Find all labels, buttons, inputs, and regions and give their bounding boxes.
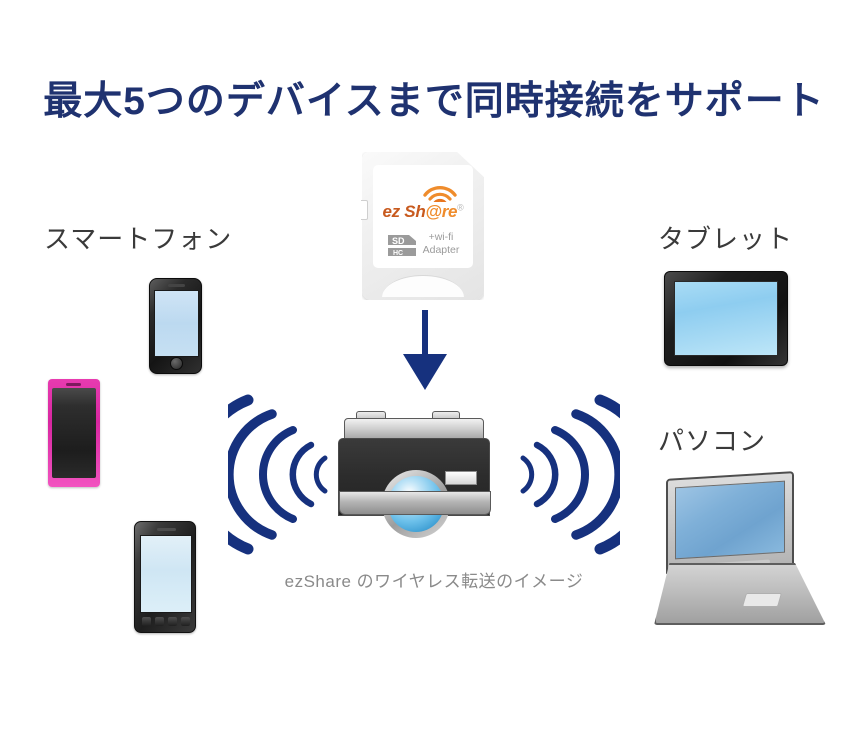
sd-card-adapter-text: +wi-fi Adapter [416,231,466,257]
smartphone-black-icon [149,278,202,374]
wireless-waves-left-icon [228,392,336,557]
brand-sh: Sh [404,202,425,221]
label-tablet: タブレット [658,219,793,256]
registered-mark: ® [457,202,463,212]
tablet-icon [664,271,788,366]
brand-at: @ [425,202,441,221]
tablet-screen [674,281,778,356]
phone-key [168,617,177,626]
laptop-screen [675,481,785,560]
smartphone-slate-icon [134,521,196,633]
phone-screen [154,290,199,357]
label-smartphone: スマートフォン [44,219,232,256]
phone-key [155,617,164,626]
phone-speaker [66,383,81,386]
arrow-down-icon [400,310,450,392]
phone-key [181,617,190,626]
svg-text:HC: HC [393,250,403,257]
camera-body [338,438,490,516]
brand-ez: ez [382,202,399,221]
camera-icon [338,418,490,538]
wifi-arcs-icon [423,182,457,202]
camera-bottom-plate [339,491,491,515]
svg-text:SD: SD [392,236,405,246]
phone-screen [52,388,96,478]
phone-key [142,617,151,626]
laptop-lid [666,471,794,574]
page-title: 最大5つのデバイスまで同時接続をサポート [0,70,868,126]
sd-card-write-protect-notch [361,200,368,220]
laptop-trackpad [742,593,782,607]
phone-speaker [157,528,176,531]
camera-viewfinder-window [445,471,477,485]
brand-re: re [442,202,457,221]
laptop-base [654,563,826,625]
sd-card-label-face: ez Sh@re® SD HC +wi-fi Adapter [373,165,473,268]
sdhc-logo-icon: SD HC [385,233,419,259]
wireless-waves-right-icon [512,392,620,557]
sd-card-brand-logo: ez Sh@re® [373,202,473,222]
adapter-line-1: +wi-fi [416,231,466,244]
camera-top-plate [344,418,484,440]
adapter-line-2: Adapter [416,244,466,257]
smartphone-pink-icon [48,379,100,487]
phone-key-row [142,617,190,626]
phone-home-button [170,357,183,370]
sd-card: ez Sh@re® SD HC +wi-fi Adapter [362,152,484,300]
phone-speaker [168,284,185,287]
phone-screen [140,535,192,613]
laptop-icon [654,475,826,640]
label-pc: パソコン [658,421,766,458]
